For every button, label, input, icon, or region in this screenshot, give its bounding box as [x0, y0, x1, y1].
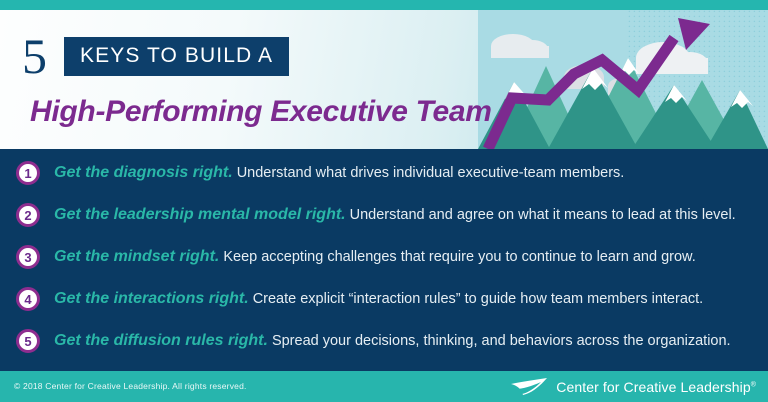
top-accent-bar	[0, 0, 768, 10]
list-item-number-badge: 4	[16, 287, 40, 311]
list-item-text: Get the leadership mental model right.Un…	[54, 205, 736, 225]
list-item-body: Keep accepting challenges that require y…	[223, 249, 695, 265]
copyright-text: © 2018 Center for Creative Leadership. A…	[14, 381, 247, 391]
list-item: 4 Get the interactions right.Create expl…	[16, 286, 703, 312]
page-title-number: 5	[22, 34, 46, 78]
key-list: 1 Get the diagnosis right.Understand wha…	[0, 149, 768, 371]
brand-logo: Center for Creative Leadership®	[510, 377, 756, 396]
list-item-number-badge: 1	[16, 161, 40, 185]
ccl-swoosh-logo-icon	[510, 377, 548, 396]
title-row: 5 KEYS TO BUILD A	[22, 34, 289, 78]
brand-logo-text: Center for Creative Leadership®	[556, 379, 756, 395]
footer-band: © 2018 Center for Creative Leadership. A…	[0, 371, 768, 402]
list-item-text: Get the diffusion rules right.Spread you…	[54, 331, 731, 351]
mountain-growth-arrow-illustration	[478, 10, 768, 149]
list-item: 5 Get the diffusion rules right.Spread y…	[16, 328, 731, 354]
list-item-lead: Get the diffusion rules right.	[54, 332, 268, 349]
list-item-number-badge: 5	[16, 329, 40, 353]
page-title-subtitle: High-Performing Executive Team	[30, 95, 492, 129]
list-item-body: Understand and agree on what it means to…	[350, 207, 736, 223]
registered-mark: ®	[751, 381, 756, 388]
brand-name: Center for Creative Leadership	[556, 379, 750, 395]
list-item-lead: Get the diagnosis right.	[54, 164, 233, 181]
list-item-number-badge: 3	[16, 245, 40, 269]
list-item: 2 Get the leadership mental model right.…	[16, 202, 736, 228]
list-item-body: Create explicit “interaction rules” to g…	[253, 291, 704, 307]
infographic-root: 5 KEYS TO BUILD A High-Performing Execut…	[0, 0, 768, 402]
list-item-lead: Get the leadership mental model right.	[54, 206, 346, 223]
list-item: 1 Get the diagnosis right.Understand wha…	[16, 160, 624, 186]
page-title-eyebrow: KEYS TO BUILD A	[64, 37, 289, 76]
list-item-body: Understand what drives individual execut…	[237, 165, 625, 181]
list-item-body: Spread your decisions, thinking, and beh…	[272, 333, 731, 349]
list-item-text: Get the diagnosis right.Understand what …	[54, 163, 624, 183]
list-item-number-badge: 2	[16, 203, 40, 227]
header-band: 5 KEYS TO BUILD A High-Performing Execut…	[0, 10, 768, 149]
list-item-lead: Get the mindset right.	[54, 248, 219, 265]
list-item-text: Get the mindset right.Keep accepting cha…	[54, 247, 696, 267]
list-item: 3 Get the mindset right.Keep accepting c…	[16, 244, 696, 270]
list-item-text: Get the interactions right.Create explic…	[54, 289, 703, 309]
list-item-lead: Get the interactions right.	[54, 290, 249, 307]
